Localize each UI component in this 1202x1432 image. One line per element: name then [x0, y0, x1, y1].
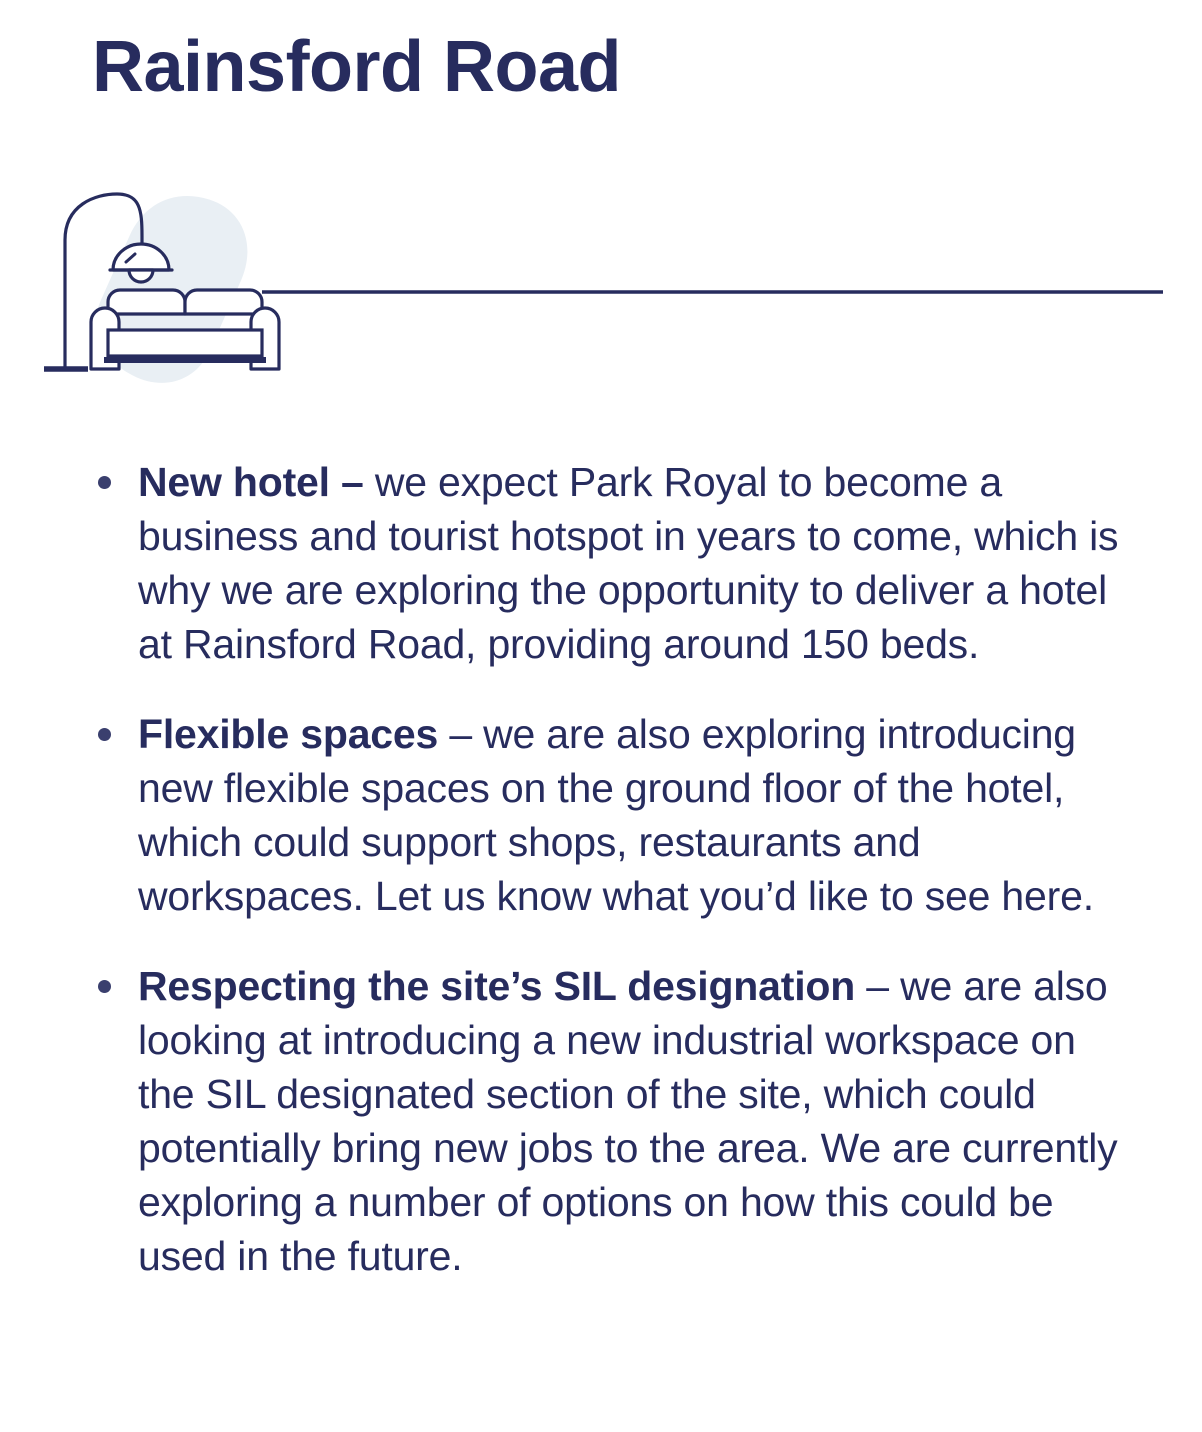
list-item: Flexible spaces – we are also exploring …	[92, 707, 1142, 923]
bullet-marker-icon	[98, 980, 111, 993]
bullet-marker-icon	[98, 728, 111, 741]
list-item: Respecting the site’s SIL designation – …	[92, 959, 1142, 1283]
sofa-back-cushion-right	[185, 290, 262, 314]
key-points-list: New hotel – we expect Park Royal to beco…	[92, 455, 1142, 1283]
page-title: Rainsford Road	[92, 28, 621, 107]
bullet-lead-label: Flexible spaces	[138, 711, 449, 757]
bullet-lead-label: Respecting the site’s SIL designation	[138, 963, 866, 1009]
list-item: New hotel – we expect Park Royal to beco…	[92, 455, 1142, 671]
lamp-bulb	[129, 270, 153, 282]
page-root: Rainsford Road	[0, 0, 1202, 1432]
illustration-floor-lamp-and-sofa	[0, 180, 1202, 400]
bullet-body-text: – we are also looking at introducing a n…	[138, 963, 1117, 1279]
bullet-lead-label: New hotel –	[138, 459, 375, 505]
bullet-marker-icon	[98, 476, 111, 489]
sofa-seat-cushion	[108, 330, 262, 356]
sofa-back-cushion-left	[108, 290, 185, 314]
